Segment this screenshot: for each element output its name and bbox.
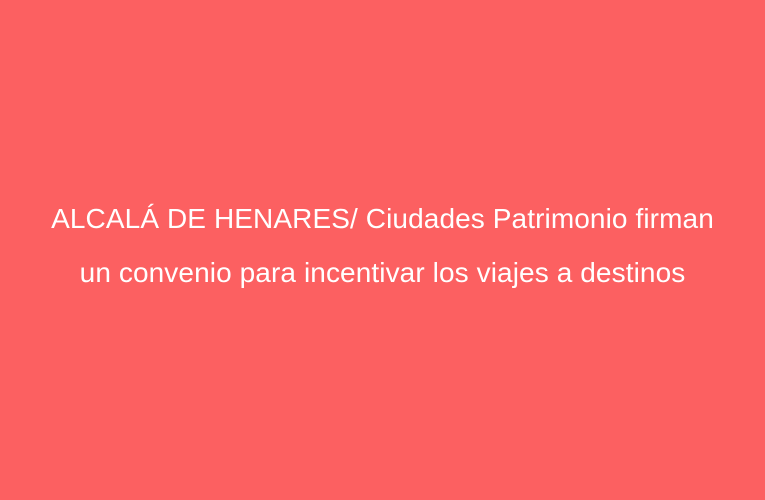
headline-block: ALCALÁ DE HENARES/ Ciudades Patrimonio f… [0, 192, 765, 300]
page-title: ALCALÁ DE HENARES/ Ciudades Patrimonio f… [48, 192, 717, 300]
article-headline-card: ALCALÁ DE HENARES/ Ciudades Patrimonio f… [0, 0, 765, 500]
